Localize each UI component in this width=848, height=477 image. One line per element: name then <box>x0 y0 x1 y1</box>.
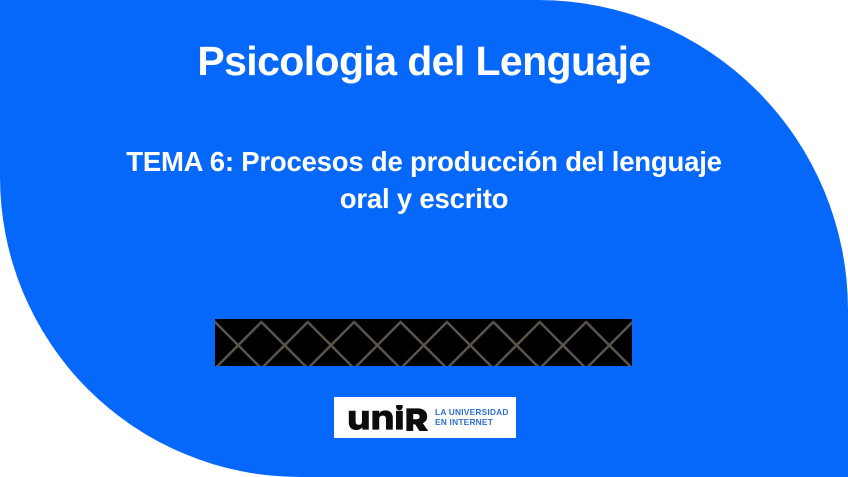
unir-logo-tagline: LA UNIVERSIDAD EN INTERNET <box>435 408 509 428</box>
unir-tagline-line-2: EN INTERNET <box>435 418 509 428</box>
presentation-slide: Psicologia del Lenguaje TEMA 6: Procesos… <box>0 0 848 477</box>
unir-tagline-line-1: LA UNIVERSIDAD <box>435 408 509 418</box>
slide-title: Psicologia del Lenguaje <box>0 38 848 85</box>
redacted-black-box <box>215 319 632 366</box>
slide-subtitle: TEMA 6: Procesos de producción del lengu… <box>104 143 744 218</box>
unir-logo: LA UNIVERSIDAD EN INTERNET <box>334 397 516 438</box>
unir-wordmark-icon <box>348 405 428 431</box>
